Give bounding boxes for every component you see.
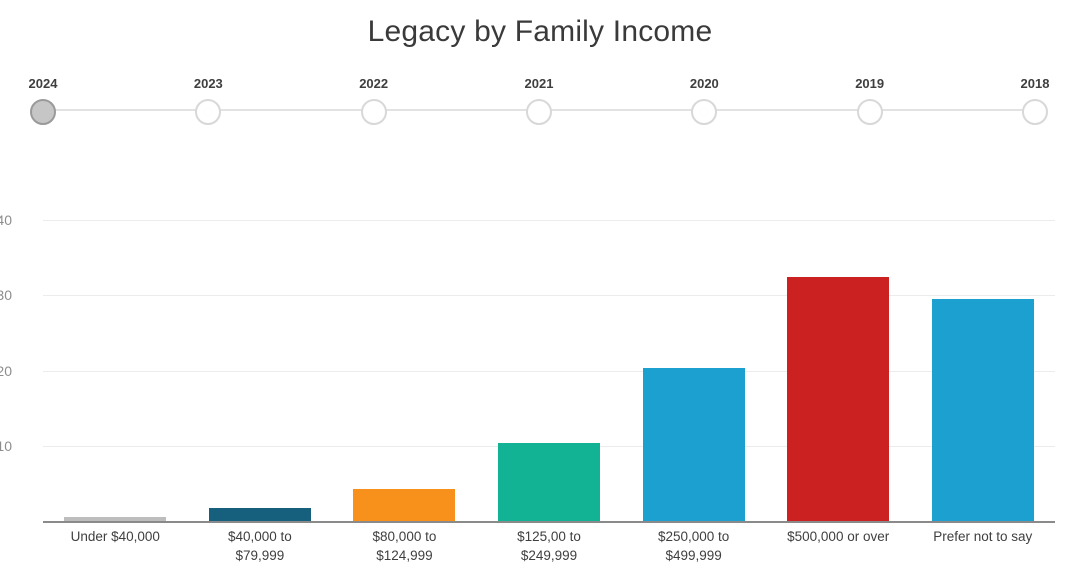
bar-series: [43, 190, 1055, 521]
bar-slot: [477, 190, 622, 521]
bar-slot: [766, 190, 911, 521]
bar[interactable]: [498, 443, 600, 521]
x-axis-category-line: $499,999: [623, 546, 764, 565]
x-axis-category-line: $500,000 or over: [768, 527, 909, 546]
x-axis-category-line: Prefer not to say: [912, 527, 1053, 546]
x-axis-category-line: Under $40,000: [45, 527, 186, 546]
page-title: Legacy by Family Income: [0, 14, 1080, 50]
timeline-dot-icon[interactable]: [1022, 99, 1048, 125]
timeline-dot-icon[interactable]: [361, 99, 387, 125]
x-axis-category-label: $250,000 to$499,999: [621, 527, 766, 565]
timeline-node-2019[interactable]: 2019: [828, 76, 912, 125]
x-axis-category-label: $80,000 to$124,999: [332, 527, 477, 565]
timeline-node-2024[interactable]: 2024: [1, 76, 85, 125]
bar-slot: [332, 190, 477, 521]
timeline-dot-icon[interactable]: [30, 99, 56, 125]
bar-slot: [910, 190, 1055, 521]
bar[interactable]: [353, 489, 455, 521]
x-axis-category-line: $125,00 to: [479, 527, 620, 546]
timeline-year-label: 2019: [828, 76, 912, 92]
x-axis-category-line: $40,000 to: [190, 527, 331, 546]
x-axis-category-line: $250,000 to: [623, 527, 764, 546]
x-axis-category-line: $80,000 to: [334, 527, 475, 546]
timeline-dot-icon[interactable]: [195, 99, 221, 125]
bar[interactable]: [787, 277, 889, 521]
timeline-node-2023[interactable]: 2023: [166, 76, 250, 125]
x-axis-category-label: $125,00 to$249,999: [477, 527, 622, 565]
y-axis-tick-label: 40: [0, 213, 12, 227]
timeline-year-label: 2018: [993, 76, 1077, 92]
timeline-year-label: 2024: [1, 76, 85, 92]
y-axis-tick-label: 30: [0, 288, 12, 302]
x-axis-category-line: $79,999: [190, 546, 331, 565]
timeline-node-2021[interactable]: 2021: [497, 76, 581, 125]
timeline-year-label: 2021: [497, 76, 581, 92]
bar[interactable]: [209, 508, 311, 521]
timeline-node-2018[interactable]: 2018: [993, 76, 1077, 125]
bar-slot: [621, 190, 766, 521]
y-axis-tick-label: 10: [0, 439, 12, 453]
timeline-year-label: 2020: [662, 76, 746, 92]
x-axis-line: [43, 521, 1055, 523]
timeline-node-2020[interactable]: 2020: [662, 76, 746, 125]
timeline-dot-icon[interactable]: [857, 99, 883, 125]
timeline-year-label: 2022: [332, 76, 416, 92]
plot-area: 10203040: [43, 190, 1055, 523]
timeline-dot-icon[interactable]: [526, 99, 552, 125]
x-axis-category-line: $249,999: [479, 546, 620, 565]
timeline-year-label: 2023: [166, 76, 250, 92]
bar-slot: [43, 190, 188, 521]
x-axis-labels: Under $40,000$40,000 to$79,999$80,000 to…: [43, 527, 1055, 565]
x-axis-category-label: $500,000 or over: [766, 527, 911, 565]
bar[interactable]: [932, 299, 1034, 521]
x-axis-category-line: $124,999: [334, 546, 475, 565]
x-axis-category-label: Under $40,000: [43, 527, 188, 565]
year-timeline-selector[interactable]: 2024202320222021202020192018: [0, 62, 1080, 128]
timeline-dot-icon[interactable]: [691, 99, 717, 125]
timeline-node-2022[interactable]: 2022: [332, 76, 416, 125]
x-axis-category-label: $40,000 to$79,999: [188, 527, 333, 565]
bar[interactable]: [643, 368, 745, 521]
bar-slot: [188, 190, 333, 521]
y-axis-tick-label: 20: [0, 364, 12, 378]
x-axis-category-label: Prefer not to say: [910, 527, 1055, 565]
bar-chart: 10203040 Under $40,000$40,000 to$79,999$…: [0, 190, 1080, 578]
